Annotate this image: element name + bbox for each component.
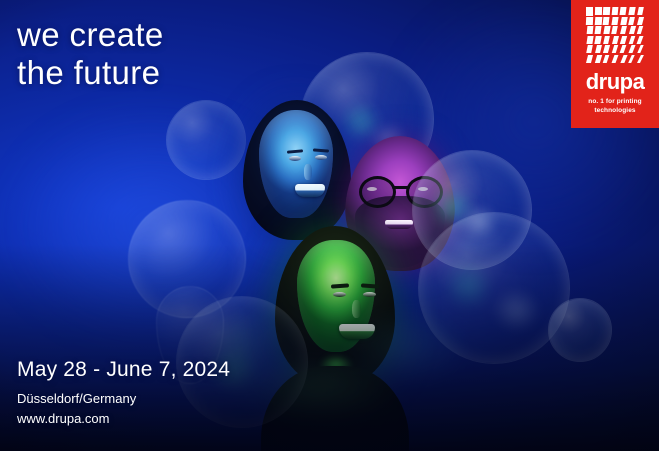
logo-cell: [629, 55, 636, 63]
logo-cell: [637, 17, 644, 25]
logo-cell: [620, 7, 627, 15]
logo-cell: [603, 26, 610, 34]
logo-cell: [595, 45, 602, 53]
headline: we create the future: [17, 16, 164, 92]
drupa-tagline: no. 1 for printing technologies: [577, 98, 653, 115]
logo-cell: [586, 26, 593, 34]
event-dates: May 28 - June 7, 2024: [17, 357, 230, 383]
logo-cell: [620, 26, 627, 34]
logo-cell: [595, 55, 602, 63]
logo-cell: [586, 55, 593, 63]
logo-cell: [611, 7, 618, 15]
drupa-wordmark: drupa: [586, 70, 645, 93]
logo-cell: [586, 45, 593, 53]
logo-cell: [594, 17, 601, 25]
drupa-tagline-line1: no. 1 for printing: [577, 98, 653, 107]
logo-cell: [603, 36, 610, 44]
logo-cell: [611, 26, 618, 34]
logo-cell: [637, 36, 644, 44]
logo-cell: [595, 26, 602, 34]
logo-cell: [586, 17, 593, 25]
logo-cell: [637, 55, 644, 63]
logo-cell: [603, 7, 610, 15]
logo-cell: [637, 26, 644, 34]
logo-cell: [612, 36, 619, 44]
event-website[interactable]: www.drupa.com: [17, 409, 230, 429]
drupa-logo[interactable]: drupa no. 1 for printing technologies: [571, 0, 659, 128]
logo-cell: [628, 26, 635, 34]
logo-cell: [611, 17, 618, 25]
logo-cell: [603, 45, 610, 53]
logo-cell: [628, 36, 635, 44]
logo-cell: [628, 7, 635, 15]
poster-canvas: we create the future May 28 - June 7, 20…: [0, 0, 659, 451]
logo-cell: [595, 36, 602, 44]
logo-cell: [603, 55, 610, 63]
logo-cell: [603, 17, 610, 25]
event-info-block: May 28 - June 7, 2024 Düsseldorf/Germany…: [17, 357, 230, 429]
event-location: Düsseldorf/Germany: [17, 389, 230, 409]
logo-cell: [620, 17, 627, 25]
logo-cell: [594, 7, 601, 15]
drupa-logo-mark: [586, 7, 644, 63]
logo-cell: [612, 45, 619, 53]
logo-cell: [620, 36, 627, 44]
logo-cell: [612, 55, 619, 63]
logo-cell: [620, 45, 627, 53]
drupa-tagline-line2: technologies: [577, 107, 653, 116]
logo-cell: [628, 45, 635, 53]
logo-cell: [637, 7, 644, 15]
logo-cell: [620, 55, 627, 63]
logo-cell: [586, 36, 593, 44]
logo-cell: [628, 17, 635, 25]
logo-cell: [637, 45, 644, 53]
logo-cell: [586, 7, 593, 16]
